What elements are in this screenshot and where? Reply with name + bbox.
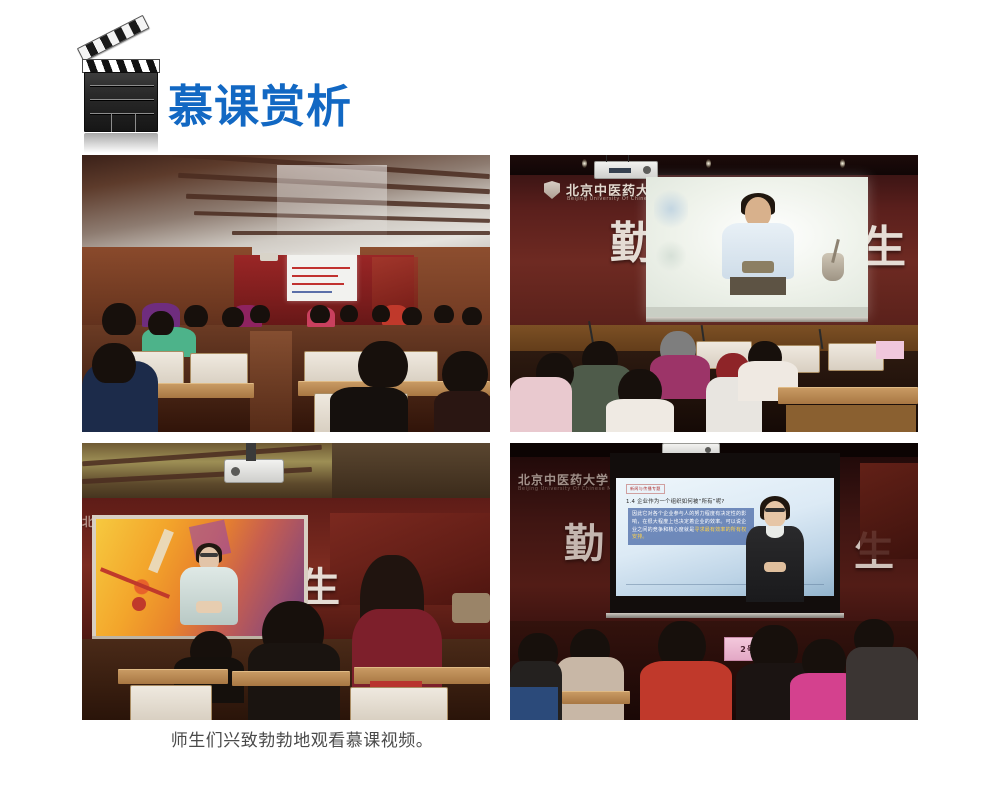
clapperboard-reflection — [84, 133, 158, 153]
audience-member — [510, 377, 572, 432]
audience-member — [640, 661, 732, 720]
ceiling — [510, 155, 918, 175]
seat-back — [190, 353, 248, 387]
photo-bottom-left: 生 北京中医药大学 — [82, 443, 490, 720]
photo-top-left — [82, 155, 490, 432]
audience-head — [340, 305, 358, 322]
photo-gallery: 北京中医药大学 Beijing University Of Chinese Me… — [82, 155, 918, 720]
slide-tag: 新闻与传播专题 — [626, 484, 665, 494]
photo-top-right: 北京中医药大学 Beijing University Of Chinese Me… — [510, 155, 918, 432]
screen-roller-bar — [646, 317, 868, 322]
video-presenter-glasses-icon — [200, 553, 218, 557]
desk — [778, 387, 918, 404]
slide-text-line — [292, 291, 332, 293]
projector-lens-icon — [643, 166, 651, 174]
projector-cable — [606, 155, 607, 162]
audience-head — [434, 305, 454, 323]
audience-head — [222, 307, 244, 327]
clapperboard-arm — [77, 15, 150, 62]
projection-screen — [287, 255, 357, 301]
audience-head — [358, 341, 408, 387]
video-decor-dot — [132, 597, 146, 611]
water-dispenser — [452, 593, 490, 623]
audience-member — [606, 399, 674, 432]
audience-head — [442, 351, 488, 393]
gallery-caption: 师生们兴致勃勃地观看慕课视频。 — [82, 726, 522, 751]
clapperboard-line — [90, 113, 154, 114]
clapperboard-stick — [82, 59, 160, 73]
slide-presenter-hands — [764, 562, 786, 572]
video-decor-shape — [148, 529, 174, 574]
wall-character-sheng: 生 — [862, 211, 906, 275]
slide-text-line — [292, 283, 344, 285]
projection-screen — [646, 177, 868, 317]
audience-member — [330, 387, 408, 432]
video-presenter-shirt — [180, 567, 238, 625]
audience-head — [250, 305, 270, 323]
downlight-icon — [840, 159, 845, 168]
seat-back — [130, 685, 212, 720]
clapperboard-line — [90, 99, 154, 100]
audience-head — [402, 307, 422, 325]
seat-sign-card — [876, 341, 904, 359]
audience-head — [148, 311, 174, 335]
ceiling-right — [332, 443, 490, 501]
slide-content: 新闻与传播专题 1.4 企业作为一个组织如何被“所有”呢? 因此它对各个企业参与… — [616, 478, 834, 596]
screen-roller-bar — [606, 613, 844, 618]
audience-head — [102, 303, 136, 335]
desk — [562, 691, 630, 704]
seat-back — [350, 687, 448, 720]
desk-front — [786, 405, 916, 432]
page-title: 慕课赏析 — [168, 84, 352, 129]
slide-paragraph: 因此它对各个企业参与人的努力程度有决定性的影响，在很大程度上也决定着企业的效率。… — [628, 508, 754, 545]
projector-lens-icon — [231, 467, 240, 476]
clapperboard-body — [84, 72, 158, 132]
projector-mount — [246, 443, 256, 461]
projection-screen: 新闻与传播专题 1.4 企业作为一个组织如何被“所有”呢? 因此它对各个企业参与… — [610, 453, 840, 613]
ceiling-projector — [224, 459, 284, 483]
audience-head — [462, 307, 482, 325]
laptop — [510, 687, 558, 720]
projector-panel — [609, 168, 631, 173]
screen-bottom-bar — [646, 307, 868, 317]
photo-bottom-right: 北京中医药大学 Beijing University Of Chinese Me… — [510, 443, 918, 720]
audience-member — [434, 391, 490, 432]
video-decor-pointer — [100, 567, 170, 598]
wall-mural — [372, 257, 418, 309]
slide-presenter-head — [764, 501, 786, 527]
video-presenter-hands — [742, 261, 774, 273]
clapperboard-line — [90, 85, 154, 86]
projector-cable — [628, 155, 629, 162]
audience-member — [846, 647, 918, 720]
slide-presenter-collar — [766, 526, 784, 538]
ceiling-projector — [260, 253, 278, 261]
clapperboard-divider — [111, 114, 112, 132]
aisle — [250, 331, 292, 432]
desk — [118, 669, 228, 684]
video-presenter-hands — [196, 601, 222, 613]
slide-text-line — [292, 275, 338, 277]
wall-character-qin: 勤 — [564, 511, 604, 569]
video-frame — [646, 177, 868, 307]
downlight-icon — [706, 159, 711, 168]
video-decor-floral — [656, 239, 686, 273]
slide-text-line — [292, 267, 350, 269]
slide-presenter-glasses-icon — [765, 508, 785, 512]
page-header: 慕课赏析 — [0, 0, 1000, 155]
wall-mural — [860, 463, 918, 559]
clapperboard-icon — [82, 46, 162, 146]
audience-head — [372, 305, 390, 322]
audience-head — [92, 343, 136, 383]
video-presenter-trousers — [730, 277, 786, 295]
desk — [232, 671, 350, 686]
slide-presenter — [744, 496, 806, 602]
clapperboard-divider — [135, 114, 136, 132]
audience-head — [310, 305, 330, 323]
ceiling-light-glow — [277, 165, 387, 243]
audience-member — [556, 657, 624, 720]
audience-head — [184, 305, 208, 327]
downlight-icon — [582, 159, 587, 168]
video-decor-floral — [654, 187, 688, 231]
